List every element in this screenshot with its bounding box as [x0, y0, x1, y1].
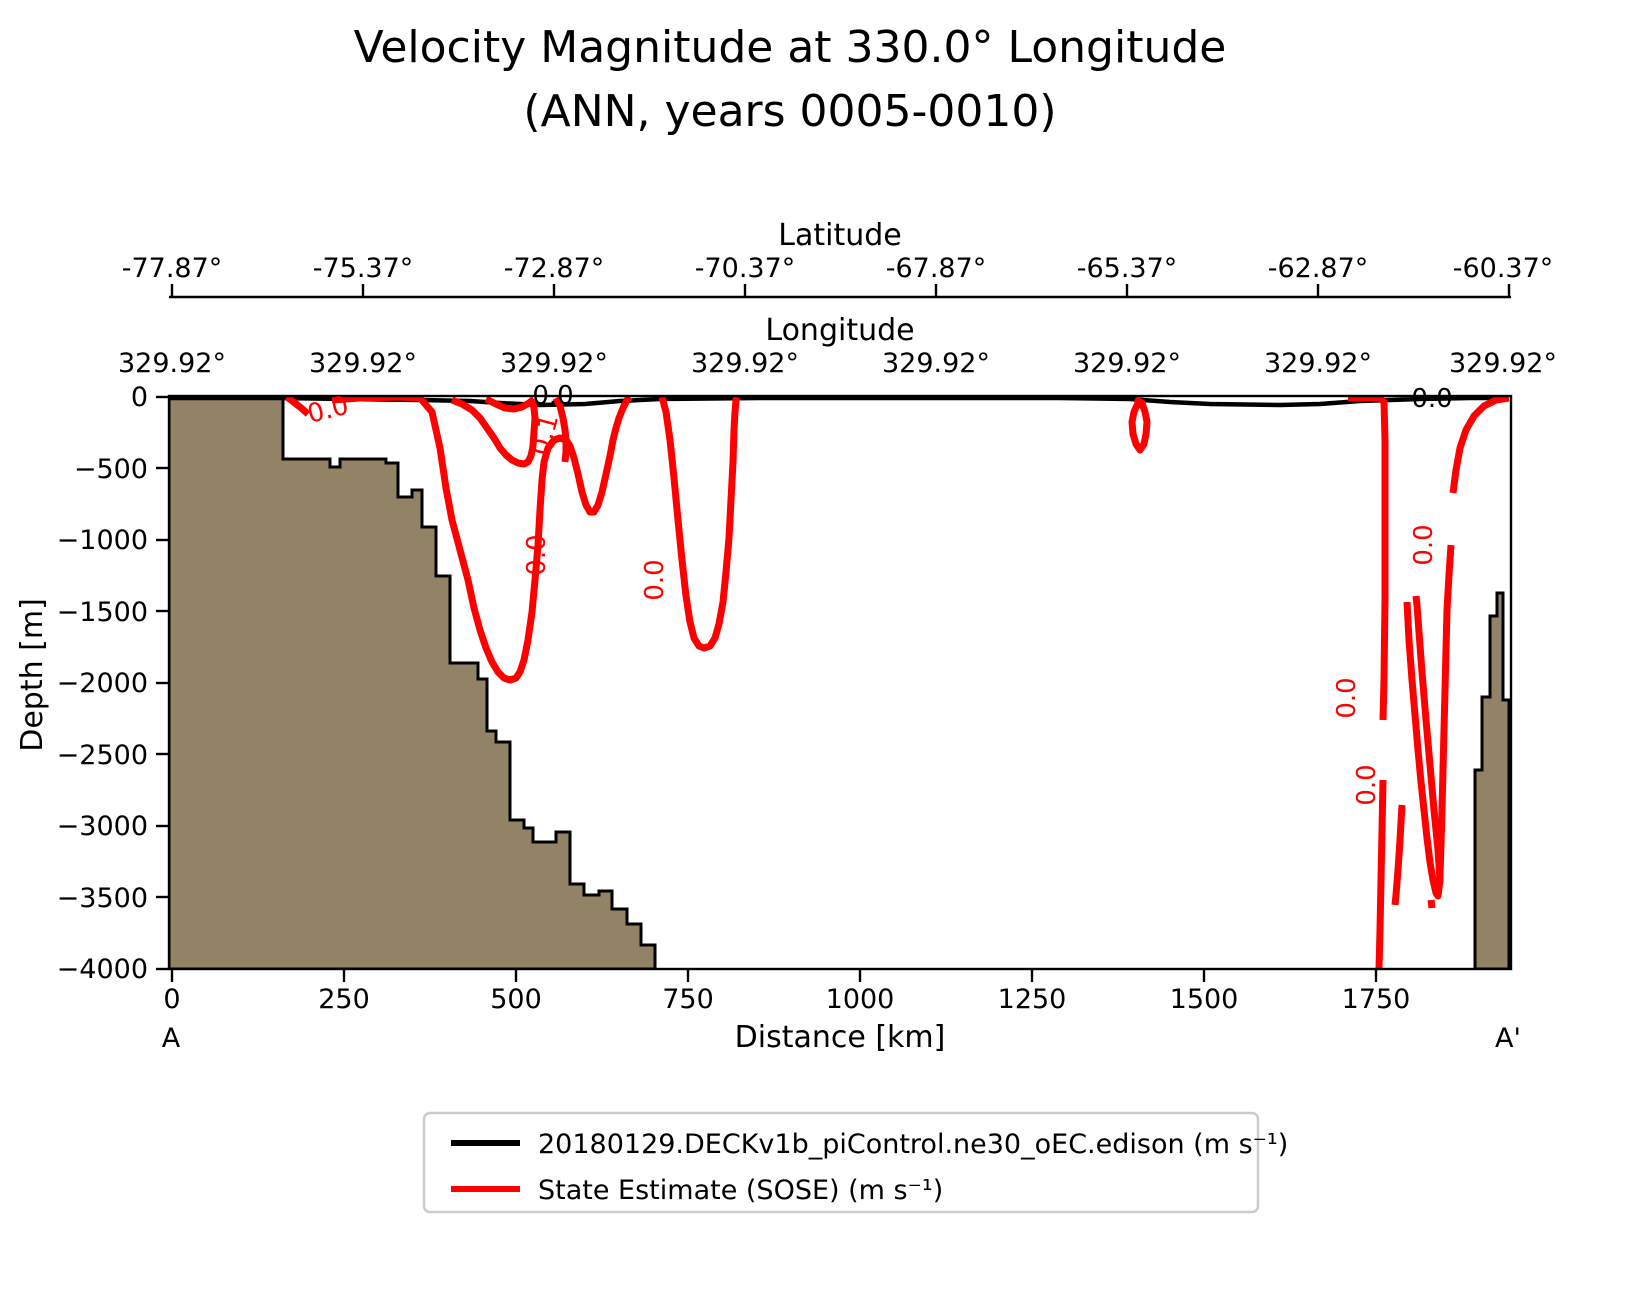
latitude-axis-label: Latitude [778, 218, 901, 253]
longitude-tick-label: 329.92° [882, 348, 990, 379]
legend-label-model: 20180129.DECKv1b_piControl.ne30_oEC.edis… [538, 1129, 1288, 1160]
legend-entry-model[interactable]: 20180129.DECKv1b_piControl.ne30_oEC.edis… [451, 1129, 1288, 1160]
depth-tick-label: −3000 [57, 811, 148, 842]
longitude-tick-label: 329.92° [1264, 348, 1372, 379]
depth-tick-label: −2500 [57, 740, 148, 771]
depth-tick-label: −1500 [57, 597, 148, 628]
chart-subtitle: (ANN, years 0005-0010) [523, 86, 1056, 137]
legend-label-sose: State Estimate (SOSE) (m s⁻¹) [538, 1175, 943, 1206]
plot-area [156, 396, 1511, 982]
depth-tick-label: 0 [131, 382, 148, 413]
longitude-tick-label: 329.92° [1449, 348, 1557, 379]
transect-end-label: A' [1495, 1023, 1521, 1054]
longitude-tick-label: 329.92° [309, 348, 417, 379]
latitude-tick-label: -67.87° [886, 253, 987, 284]
velocity-magnitude-cross-section-figure: Velocity Magnitude at 330.0° Longitude (… [0, 0, 1638, 1289]
longitude-tick-label: 329.92° [691, 348, 799, 379]
contour-label: 0.0 [1409, 524, 1439, 565]
distance-tick-label: 250 [318, 984, 370, 1015]
depth-tick-label: −3500 [57, 883, 148, 914]
depth-tick-label: −500 [74, 454, 148, 485]
distance-tick-label: 1000 [826, 984, 895, 1015]
latitude-tick-label: -70.37° [695, 253, 796, 284]
contour-label: 0.0 [522, 534, 552, 575]
depth-tick-label: −2000 [57, 668, 148, 699]
distance-tick-label: 750 [662, 984, 714, 1015]
latitude-tick-label: -72.87° [504, 253, 605, 284]
longitude-tick-label: 329.92° [500, 348, 608, 379]
chart-title: Velocity Magnitude at 330.0° Longitude [354, 22, 1227, 73]
depth-tick-label: −1000 [57, 525, 148, 556]
transect-start-label: A [162, 1023, 181, 1054]
distance-tick-label: 1250 [998, 984, 1067, 1015]
contour-label: 0.0 [1411, 384, 1452, 414]
latitude-tick-label: -77.87° [122, 253, 223, 284]
legend: 20180129.DECKv1b_piControl.ne30_oEC.edis… [424, 1113, 1288, 1212]
longitude-tick-label: 329.92° [118, 348, 226, 379]
contour-label: 0.0 [532, 381, 573, 411]
contour-label: 0.0 [640, 559, 670, 600]
distance-tick-label: 1750 [1342, 984, 1411, 1015]
distance-tick-label: 0 [163, 984, 180, 1015]
distance-axis-label: Distance [km] [735, 1020, 946, 1055]
contour-label: 0.0 [1352, 764, 1382, 805]
latitude-tick-label: -65.37° [1077, 253, 1178, 284]
longitude-axis-label: Longitude [765, 313, 914, 348]
distance-tick-label: 1500 [1170, 984, 1239, 1015]
latitude-tick-label: -60.37° [1453, 253, 1554, 284]
depth-tick-label: −4000 [57, 954, 148, 985]
longitude-tick-label: 329.92° [1073, 348, 1181, 379]
depth-axis-label: Depth [m] [15, 598, 50, 752]
latitude-tick-label: -62.87° [1268, 253, 1369, 284]
distance-tick-label: 500 [490, 984, 542, 1015]
contour-label: 0.0 [1332, 677, 1362, 718]
latitude-tick-label: -75.37° [313, 253, 414, 284]
